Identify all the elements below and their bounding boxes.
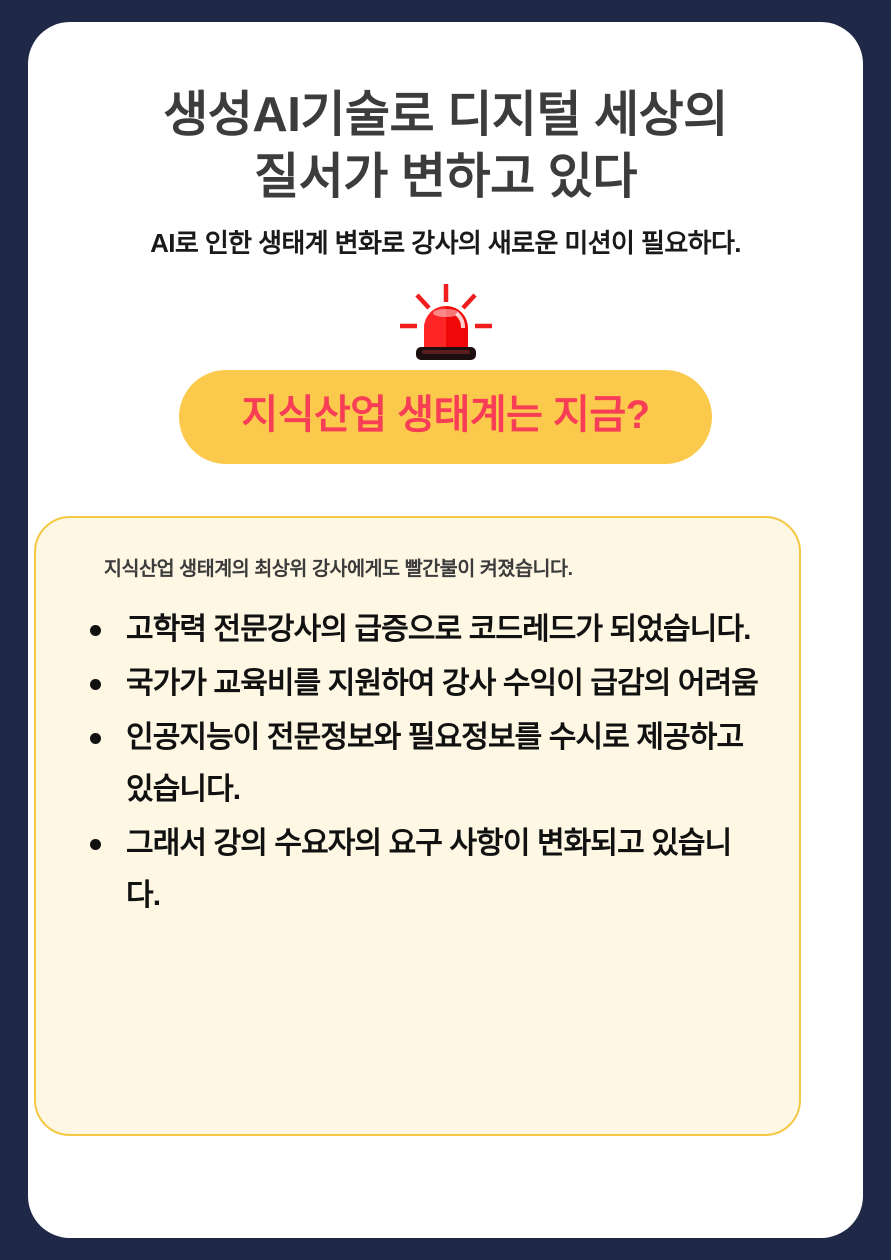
list-item-label: 인공지능이 전문정보와 필요정보를 수시로 제공하고 있습니다. <box>126 721 743 806</box>
siren-icon-container <box>28 282 863 368</box>
page-title-line-2: 질서가 변하고 있다 <box>68 146 823 208</box>
poster-page: 생성AI기술로 디지털 세상의 질서가 변하고 있다 AI로 인한 생태계 변화… <box>0 0 891 1260</box>
list-item-label: 그래서 강의 수요자의 요구 사항이 변화되고 있습니다. <box>126 827 731 912</box>
highlight-pill-container: 지식산업 생태계는 지금? <box>28 370 863 464</box>
list-item: 고학력 전문강사의 급증으로 코드레드가 되었습니다. <box>80 604 765 656</box>
list-item: 국가가 교육비를 지원하여 강사 수익이 급감의 어려움 <box>80 658 765 710</box>
siren-icon <box>398 282 494 366</box>
list-item: 그래서 강의 수요자의 요구 사항이 변화되고 있습니다. <box>80 818 765 922</box>
page-subtitle: AI로 인한 생태계 변화로 강사의 새로운 미션이 필요하다. <box>28 208 863 260</box>
highlight-pill[interactable]: 지식산업 생태계는 지금? <box>179 370 711 464</box>
info-bullet-list: 고학력 전문강사의 급증으로 코드레드가 되었습니다. 국가가 교육비를 지원하… <box>80 604 765 922</box>
page-title: 생성AI기술로 디지털 세상의 질서가 변하고 있다 <box>28 22 863 208</box>
bullet-dot-icon <box>90 839 101 850</box>
list-item: 인공지능이 전문정보와 필요정보를 수시로 제공하고 있습니다. <box>80 712 765 816</box>
info-panel-caption: 지식산업 생태계의 최상위 강사에게도 빨간불이 켜졌습니다. <box>80 556 765 582</box>
bullet-dot-icon <box>90 679 101 690</box>
list-item-label: 고학력 전문강사의 급증으로 코드레드가 되었습니다. <box>126 613 751 646</box>
bullet-dot-icon <box>90 625 101 636</box>
bullet-dot-icon <box>90 733 101 744</box>
page-title-line-1: 생성AI기술로 디지털 세상의 <box>68 84 823 146</box>
info-panel: 지식산업 생태계의 최상위 강사에게도 빨간불이 켜졌습니다. 고학력 전문강사… <box>34 516 801 1136</box>
list-item-label: 국가가 교육비를 지원하여 강사 수익이 급감의 어려움 <box>126 667 758 700</box>
